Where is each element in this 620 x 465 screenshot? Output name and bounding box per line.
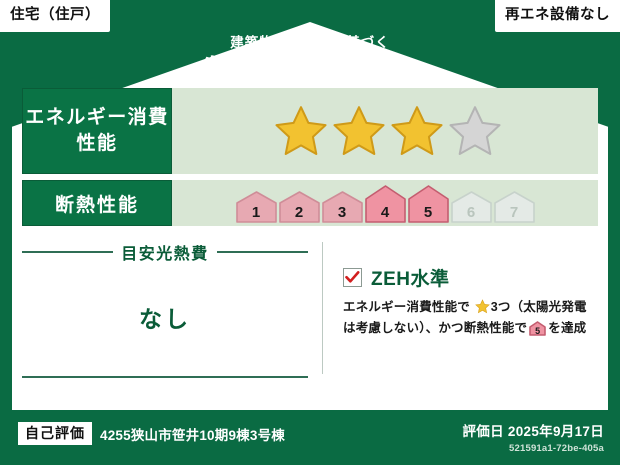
star-filled-icon <box>274 104 328 158</box>
footer-left: 自己評価 4255狭山市笹井10期9棟3号棟 <box>18 422 285 445</box>
energy-performance-value <box>172 88 598 174</box>
star-filled-icon <box>390 104 444 158</box>
insulation-performance-label: 断熱性能 <box>22 180 172 226</box>
energy-cost-box: 目安光熱費 なし <box>22 240 322 400</box>
energy-performance-label: 住宅（住戸） 再エネ設備なし 建築物省エネ法に基づく 省エネ性能ラベル エネルギ… <box>0 0 620 465</box>
grade-number: 3 <box>322 205 363 220</box>
energy-performance-row: エネルギー消費性能 <box>22 88 598 174</box>
lower-section: 目安光熱費 なし ZEH水準 エネルギー消費性能で <box>22 240 598 400</box>
inline-grade-badge: 5 <box>529 321 546 343</box>
energy-cost-bottom-rule <box>22 376 308 378</box>
star-filled-icon <box>332 104 386 158</box>
zeh-description: エネルギー消費性能で 3つ（太陽光発電は考慮しない）、かつ断熱性能で5を達成 <box>343 297 598 342</box>
insulation-grade-5: 5 <box>408 185 449 223</box>
grade-number: 4 <box>365 205 406 220</box>
grade-number: 6 <box>451 205 492 220</box>
inline-grade-shape: 5 <box>529 321 546 336</box>
evaluation-date: 評価日 2025年9月17日 <box>462 420 604 440</box>
star-empty-icon <box>448 104 502 158</box>
self-evaluation-badge: 自己評価 <box>18 422 92 445</box>
zeh-box: ZEH水準 エネルギー消費性能で 3つ（太陽光発電は考慮しない）、かつ断熱性能で… <box>323 240 598 400</box>
energy-cost-header: 目安光熱費 <box>22 240 308 264</box>
zeh-title: ZEH水準 <box>371 264 450 291</box>
insulation-grade-4: 4 <box>365 185 406 223</box>
energy-cost-value: なし <box>22 300 308 334</box>
insulation-grade-scale: 1234567 <box>236 183 535 223</box>
property-address: 4255狭山市笹井10期9棟3号棟 <box>100 424 285 444</box>
zeh-checkbox[interactable] <box>343 268 362 287</box>
zeh-desc-part4: を達成 <box>548 321 586 335</box>
inline-star-icon <box>475 299 490 314</box>
energy-cost-title: 目安光熱費 <box>121 240 209 264</box>
insulation-performance-row: 断熱性能 1234567 <box>22 180 598 226</box>
grade-number: 7 <box>494 205 535 220</box>
rule-right-icon <box>217 251 308 253</box>
check-icon <box>345 271 360 284</box>
label-footer: 自己評価 4255狭山市笹井10期9棟3号棟 評価日 2025年9月17日 52… <box>0 410 620 465</box>
label-content: エネルギー消費性能 断熱性能 1234567 目安光熱費 なし <box>22 88 598 404</box>
insulation-performance-value: 1234567 <box>172 180 598 226</box>
zeh-header: ZEH水準 <box>343 264 598 291</box>
footer-right: 評価日 2025年9月17日 521591a1-72be-405a <box>462 420 604 454</box>
rule-left-icon <box>22 251 113 253</box>
grade-number: 5 <box>408 205 449 220</box>
insulation-grade-1: 1 <box>236 191 277 223</box>
inline-grade-number: 5 <box>529 327 546 336</box>
insulation-grade-7: 7 <box>494 191 535 223</box>
star-rating <box>274 104 502 158</box>
building-type-tag: 住宅（住戸） <box>0 0 110 32</box>
grade-number: 2 <box>279 205 320 220</box>
insulation-grade-2: 2 <box>279 191 320 223</box>
zeh-desc-part3: は考慮しない）、かつ断熱性能で <box>343 321 527 335</box>
insulation-grade-6: 6 <box>451 191 492 223</box>
renewable-energy-tag: 再エネ設備なし <box>495 0 620 32</box>
insulation-grade-3: 3 <box>322 191 363 223</box>
grade-number: 1 <box>236 205 277 220</box>
zeh-desc-part1: エネルギー消費性能で <box>343 300 470 314</box>
document-id: 521591a1-72be-405a <box>462 443 604 454</box>
zeh-desc-part2: 3つ（太陽光発電 <box>491 300 587 314</box>
energy-performance-label: エネルギー消費性能 <box>22 88 172 174</box>
